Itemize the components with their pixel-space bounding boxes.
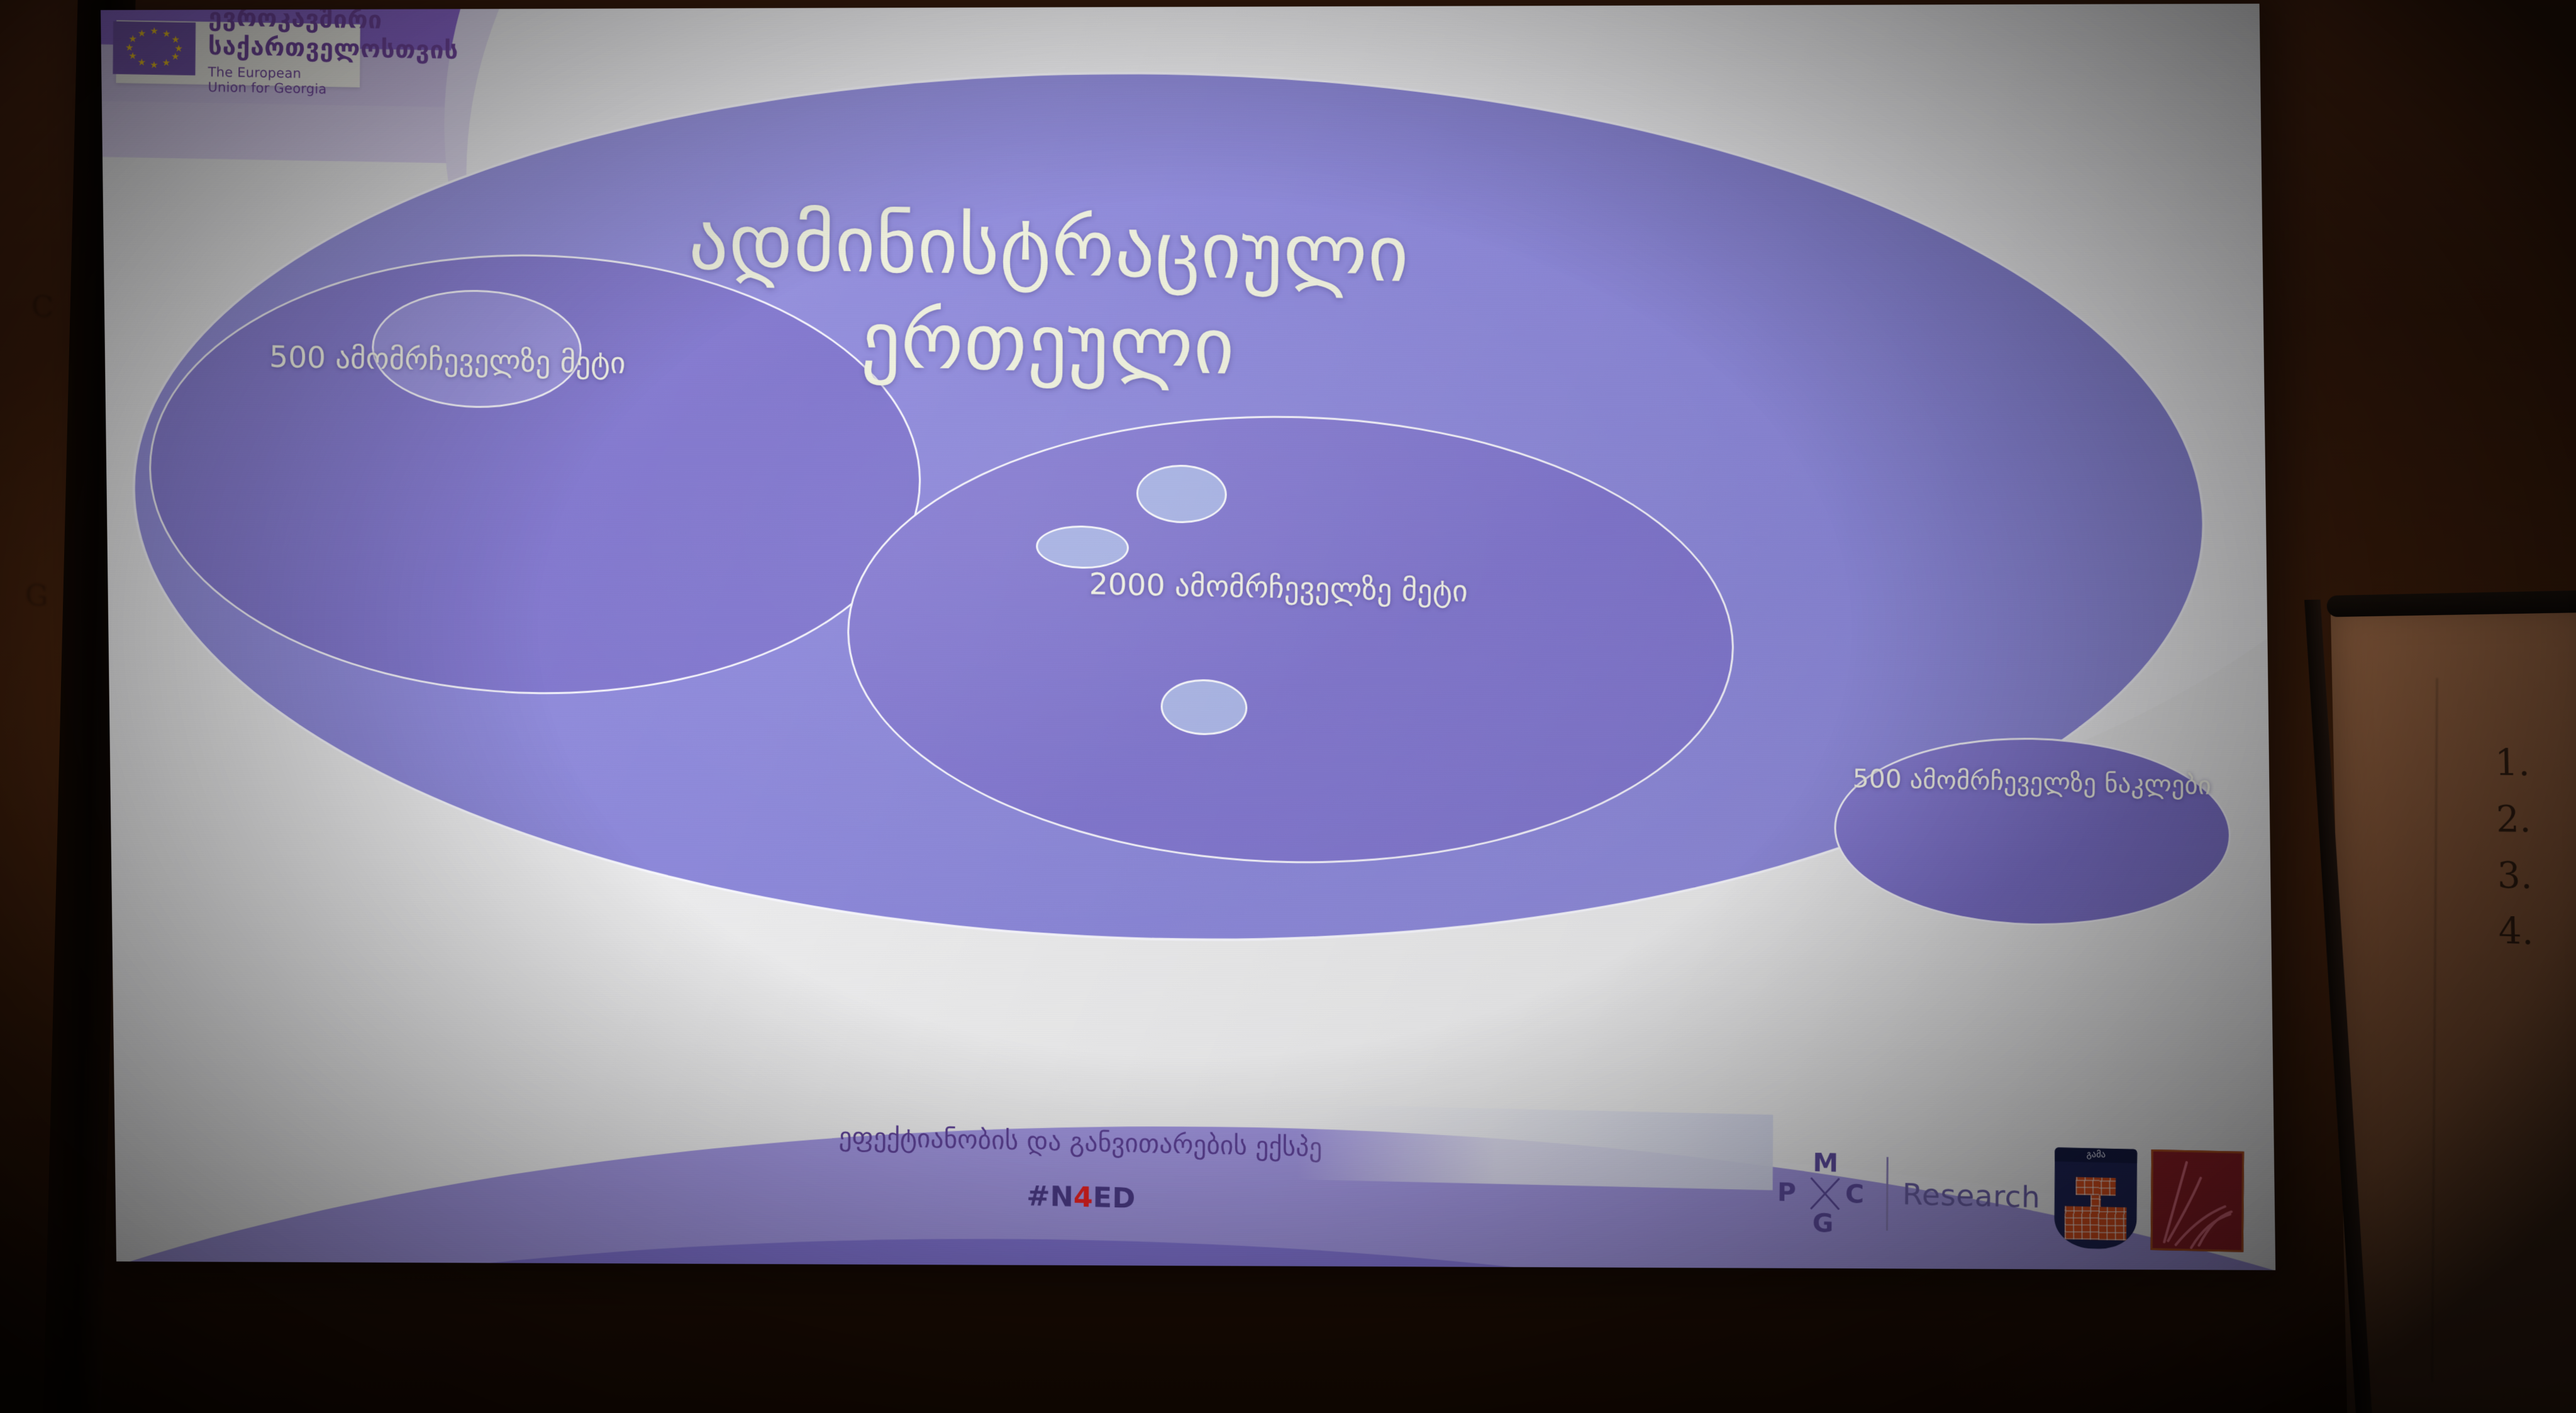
projection-screen: ადმინისტრაციული ერთეული 500 ამომრჩეველზე… <box>101 4 2275 1270</box>
eu-logo-line2: საქართველოსთვის <box>208 33 340 64</box>
crest-caption: გამა <box>2055 1148 2138 1160</box>
eu-star-icon: ★ <box>136 58 146 67</box>
eu-star-icon: ★ <box>137 28 147 38</box>
hashtag-prefix: #N <box>1026 1180 1074 1213</box>
flipchart-easel: 1. 2. 3. 4. <box>2302 585 2576 1413</box>
eu-star-icon: ★ <box>149 26 158 36</box>
presentation-slide: ადმინისტრაციული ერთეული 500 ამომრჩეველზე… <box>101 4 2275 1270</box>
hashtag-suffix: ED <box>1092 1182 1135 1215</box>
eu-star-icon: ★ <box>149 60 158 70</box>
logo-divider <box>1886 1156 1889 1230</box>
eu-star-icon: ★ <box>162 58 171 67</box>
flipchart-top-bar <box>2326 590 2576 617</box>
red-partner-logo-icon <box>2151 1150 2244 1252</box>
eu-star-icon: ★ <box>162 29 171 38</box>
municipality-crest-icon: გამა <box>2055 1147 2138 1250</box>
pmc-letter-p: P <box>1777 1178 1796 1207</box>
hashtag-number: 4 <box>1073 1181 1092 1214</box>
eu-flag-icon: ★★★★★★★★★★★★ <box>113 21 195 75</box>
eu-logo-line3: The European Union for Georgia <box>208 65 340 97</box>
pmc-logo-icon: P M C G <box>1776 1143 1873 1241</box>
partner-logo-strip: P M C G Research გამა <box>1721 1129 2245 1263</box>
eu-logo-text: ევროკავშირი საქართველოსთვის The European… <box>208 21 340 79</box>
pmc-cross-icon <box>1803 1172 1846 1215</box>
eu-star-icon: ★ <box>170 52 180 62</box>
eu-star-icon: ★ <box>128 35 137 44</box>
screenshot-root: C T G ადმინისტრაციული ერთეული 500 ამომრჩ… <box>0 0 2576 1413</box>
flipchart-paper <box>2331 599 2576 1413</box>
flipchart-handwritten-numbers: 1. 2. 3. 4. <box>2494 736 2534 961</box>
eu-stars: ★★★★★★★★★★★★ <box>113 21 195 75</box>
crest-brick-top <box>2076 1177 2116 1195</box>
crest-brick-column <box>2091 1195 2101 1207</box>
pmc-letter-c: C <box>1845 1179 1864 1209</box>
crest-brick-base <box>2065 1206 2127 1241</box>
pmc-research-label: Research <box>1902 1177 2041 1214</box>
